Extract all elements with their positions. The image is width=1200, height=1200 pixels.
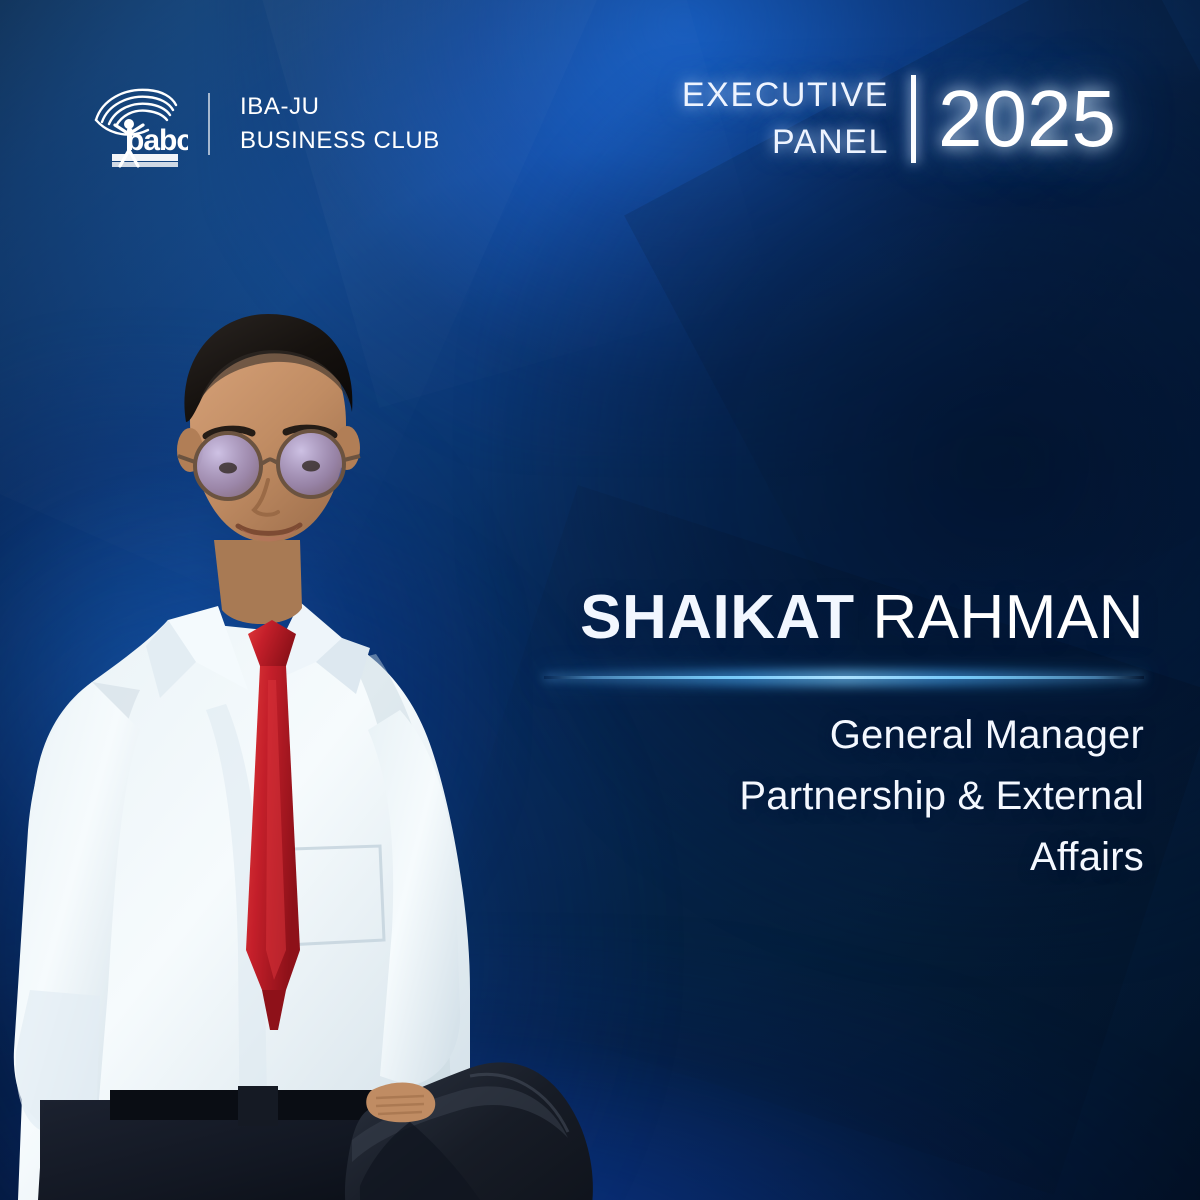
club-logo-lockup[interactable]: babc IBA-JU BUSINESS CLUB [88, 80, 440, 168]
person-name: SHAIKAT RAHMAN [544, 586, 1144, 650]
ibabc-logo-icon: babc [88, 80, 188, 168]
person-role-line2: Partnership & External [544, 766, 1144, 827]
person-role-line3: Affairs [544, 827, 1144, 888]
panel-title-line1: EXECUTIVE [682, 72, 889, 119]
name-divider-rule [544, 676, 1144, 679]
panel-year: 2025 [938, 81, 1116, 156]
club-name-line2: BUSINESS CLUB [240, 124, 440, 158]
person-last-name: RAHMAN [872, 583, 1144, 652]
svg-text:babc: babc [126, 124, 188, 157]
club-name: IBA-JU BUSINESS CLUB [240, 90, 440, 158]
club-name-line1: IBA-JU [240, 90, 440, 124]
person-role-line1: General Manager [544, 705, 1144, 766]
person-role: General Manager Partnership & External A… [544, 705, 1144, 887]
executive-panel-header: EXECUTIVE PANEL 2025 [682, 72, 1116, 166]
panel-title-line2: PANEL [682, 119, 889, 166]
person-info-block: SHAIKAT RAHMAN General Manager Partnersh… [544, 586, 1144, 888]
logo-divider [208, 93, 210, 155]
panel-title: EXECUTIVE PANEL [682, 72, 911, 166]
executive-panel-poster: babc IBA-JU BUSINESS CLUB EXECUTIVE PANE… [0, 0, 1200, 1200]
person-first-name: SHAIKAT [580, 583, 854, 652]
panel-year-divider [911, 75, 916, 163]
